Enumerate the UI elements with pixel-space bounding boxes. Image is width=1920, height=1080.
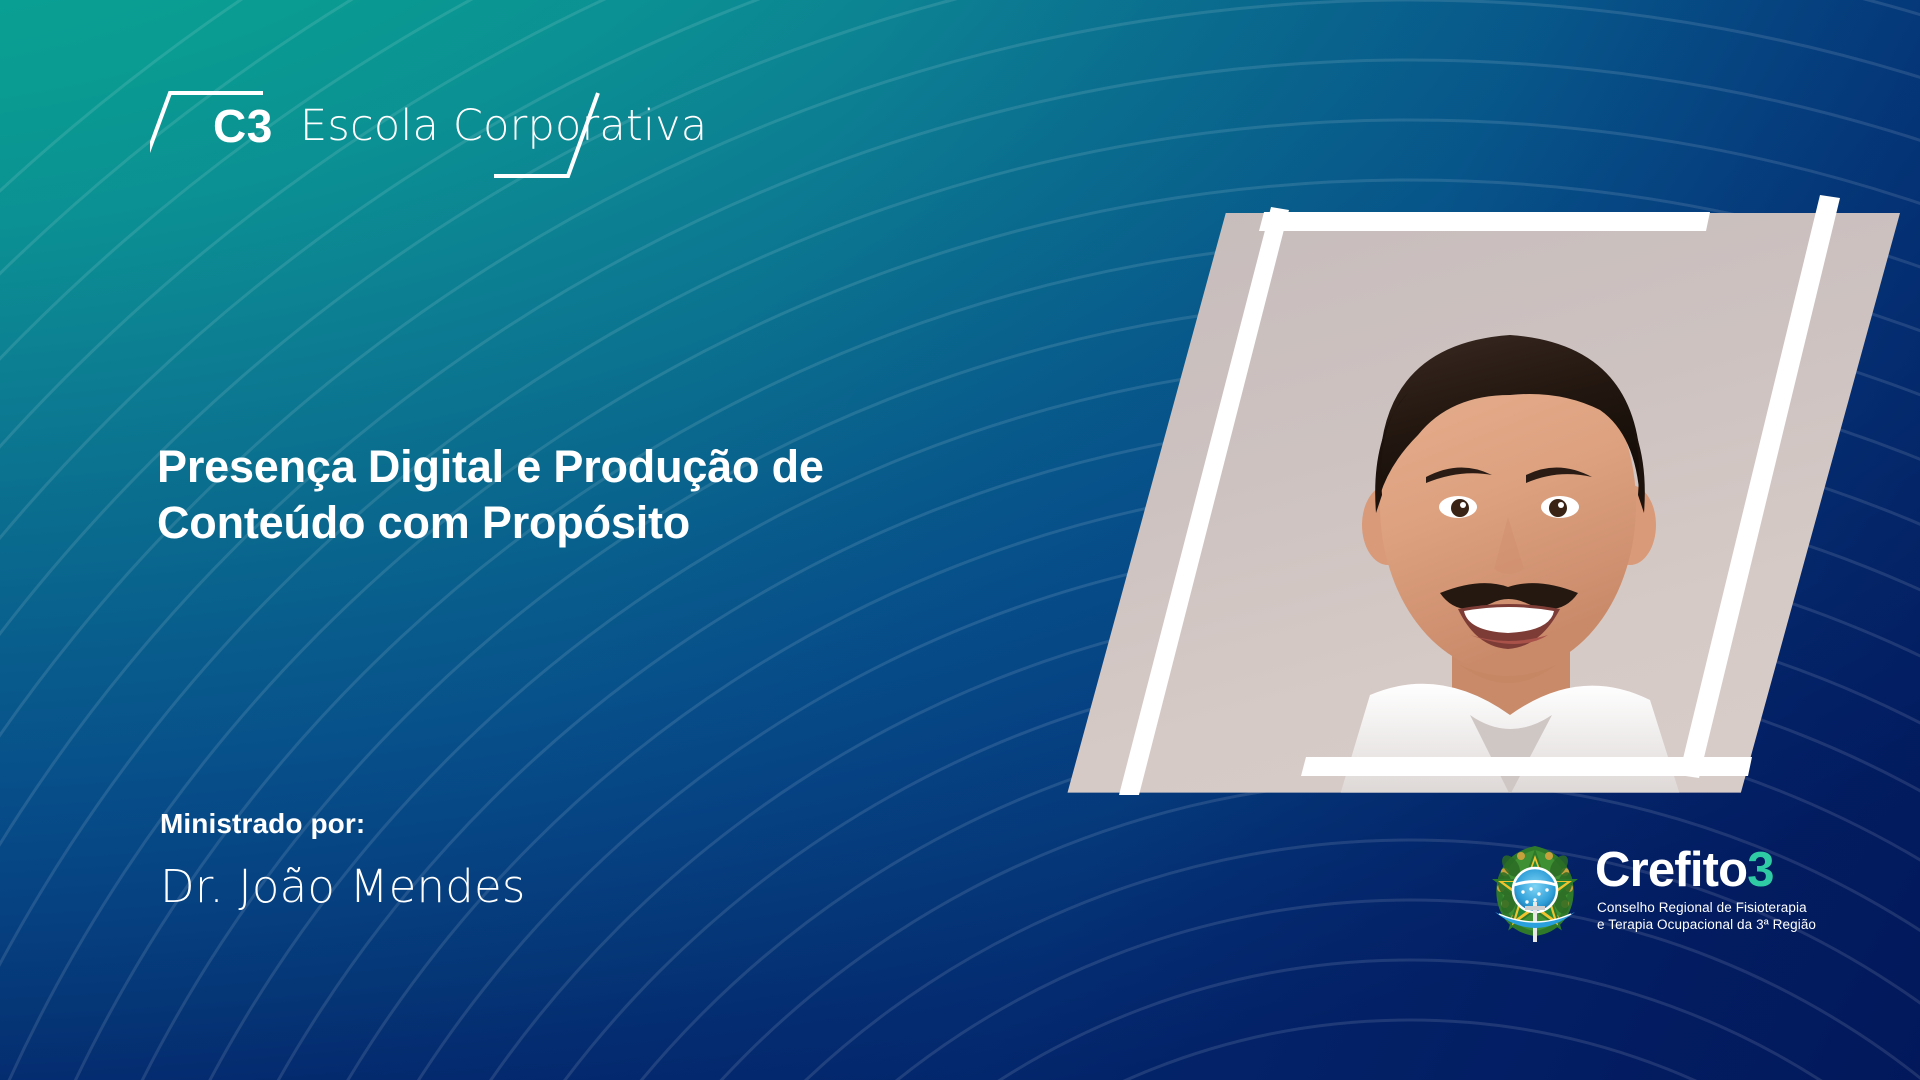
- speaker-label: Ministrado por:: [160, 808, 365, 840]
- logo-mark-c3: C3: [213, 94, 273, 158]
- brazil-coat-of-arms-icon: [1487, 840, 1583, 946]
- crefito-wordmark: Crefito3: [1595, 842, 1774, 898]
- page-title: Presença Digital e Produção de Conteúdo …: [157, 439, 1037, 552]
- crefito-subtitle: Conselho Regional de Fisioterapia e Tera…: [1597, 899, 1816, 933]
- crefito-name-number: 3: [1747, 843, 1773, 897]
- crefito-name-text: Crefito: [1595, 843, 1747, 897]
- c3-escola-corporativa-logo[interactable]: C3 Escola Corporativa: [150, 88, 730, 180]
- crefito-subtitle-line-1: Conselho Regional de Fisioterapia: [1597, 899, 1816, 916]
- speaker-name: Dr. João Mendes: [160, 860, 526, 913]
- title-line-2: Conteúdo com Propósito: [157, 495, 1037, 551]
- speaker-photo-frame: [1040, 195, 1900, 795]
- crefito-subtitle-line-2: e Terapia Ocupacional da 3ª Região: [1597, 916, 1816, 933]
- logo-tagline: Escola Corporativa: [300, 94, 707, 158]
- event-banner: C3 Escola Corporativa Presença Digital e…: [0, 0, 1920, 1080]
- title-line-1: Presença Digital e Produção de: [157, 441, 824, 492]
- photo-frame-border: [1040, 195, 1900, 795]
- crefito3-logo[interactable]: Crefito3 Conselho Regional de Fisioterap…: [1487, 836, 1867, 954]
